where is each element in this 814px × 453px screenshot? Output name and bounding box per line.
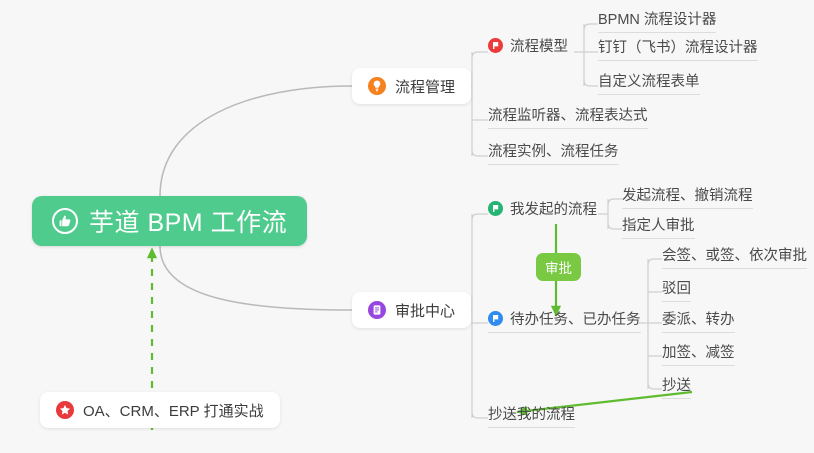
node-todo-done-tasks[interactable]: 待办任务、已办任务 [488,308,641,333]
branch-label: 审批中心 [395,300,455,321]
node-reject[interactable]: 驳回 [662,277,691,302]
node-label: 抄送 [662,374,691,395]
node-cc-to-me[interactable]: 抄送我的流程 [488,403,575,428]
node-label: 流程监听器、流程表达式 [488,104,648,125]
wire-todo-to-countersign [648,259,662,265]
node-label: 待办任务、已办任务 [510,308,641,329]
node-dingtalk-feishu-designer[interactable]: 钉钉（飞书）流程设计器 [598,36,758,61]
node-label: 抄送我的流程 [488,403,575,424]
wire-ac-to-initiated [472,214,488,220]
node-label: 会签、或签、依次审批 [662,244,807,265]
node-label: 委派、转办 [662,308,735,329]
clipboard-icon [368,301,386,319]
wire-model-to-bpmn [584,24,598,30]
branch-approval-center[interactable]: 审批中心 [352,292,471,328]
mindmap-canvas: 芋道 BPM 工作流 流程管理 流程模型 流程监听器、流程表达式 流程实例、流程… [0,0,814,453]
node-label: 流程实例、流程任务 [488,140,619,161]
wire-ac-to-cc [472,412,488,418]
node-label: 发起流程、撤销流程 [622,184,753,205]
node-custom-process-form[interactable]: 自定义流程表单 [598,70,700,95]
node-assignee-approval[interactable]: 指定人审批 [622,214,695,239]
wire-model-to-form [584,80,598,86]
node-process-model[interactable]: 流程模型 [488,35,568,59]
lightbulb-icon [368,77,386,95]
integration-node[interactable]: OA、CRM、ERP 打通实战 [40,392,280,428]
branch-label: 流程管理 [395,76,455,97]
node-bpmn-designer[interactable]: BPMN 流程设计器 [598,8,716,33]
node-label: 流程模型 [510,35,568,56]
thumbs-up-icon [52,208,78,234]
star-icon [56,401,74,419]
wire-root-to-approval-center [160,246,352,310]
flag-icon [488,38,503,53]
node-label: 自定义流程表单 [598,70,700,91]
node-start-cancel-process[interactable]: 发起流程、撤销流程 [622,184,753,209]
node-carbon-copy[interactable]: 抄送 [662,374,691,399]
node-delegate-transfer[interactable]: 委派、转办 [662,308,735,333]
wire-initiated-to-assignee [608,223,622,229]
flag-icon [488,311,503,326]
wire-root-to-process-management [160,86,352,196]
wire-pm-to-model [472,52,488,58]
node-label: 加签、减签 [662,341,735,362]
node-countersign[interactable]: 会签、或签、依次审批 [662,244,807,269]
node-label: 驳回 [662,277,691,298]
wire-initiated-to-start [608,199,622,205]
node-add-remove-sign[interactable]: 加签、减签 [662,341,735,366]
node-my-initiated[interactable]: 我发起的流程 [488,198,597,222]
root-node[interactable]: 芋道 BPM 工作流 [32,196,307,246]
node-listener-expression[interactable]: 流程监听器、流程表达式 [488,104,648,129]
root-label: 芋道 BPM 工作流 [89,203,287,239]
wire-pm-to-instance [472,150,488,156]
wire-todo-to-cc [648,383,662,389]
integration-node-label: OA、CRM、ERP 打通实战 [83,400,264,421]
approval-badge-label: 审批 [545,257,572,277]
node-label: 钉钉（飞书）流程设计器 [598,36,758,57]
node-label: 指定人审批 [622,214,695,235]
node-instance-task[interactable]: 流程实例、流程任务 [488,140,619,165]
flag-icon [488,201,503,216]
approval-badge[interactable]: 审批 [536,253,581,281]
branch-process-management[interactable]: 流程管理 [352,68,471,104]
node-label: 我发起的流程 [510,198,597,219]
node-label: BPMN 流程设计器 [598,8,716,29]
